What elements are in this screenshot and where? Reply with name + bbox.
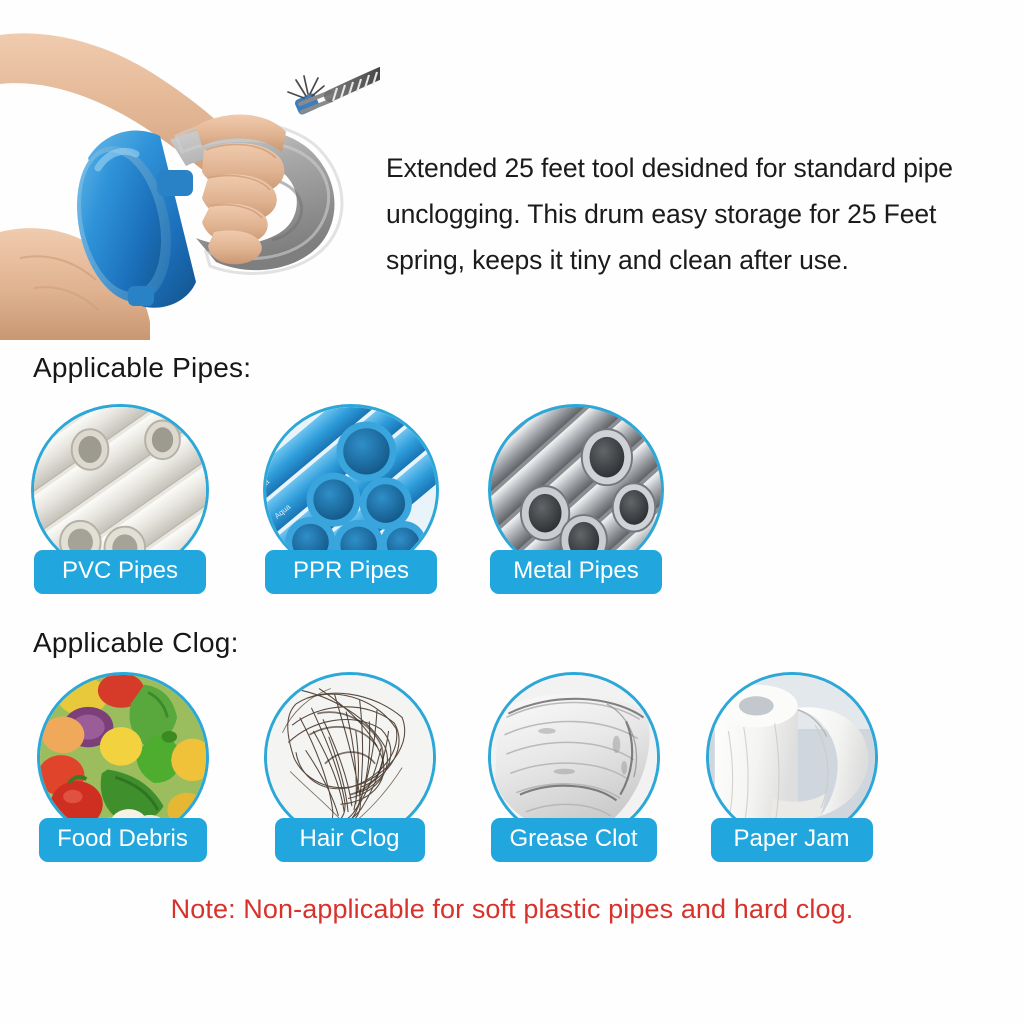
spring-cable: [330, 36, 380, 101]
badge-ppr-pipes[interactable]: PPR Pipes: [265, 550, 437, 594]
infographic-page: Extended 25 feet tool desidned for stand…: [0, 0, 1024, 1024]
product-description: Extended 25 feet tool desidned for stand…: [386, 145, 1006, 283]
badge-food-debris[interactable]: Food Debris: [39, 818, 207, 862]
badge-pvc-pipes[interactable]: PVC Pipes: [34, 550, 206, 594]
badge-grease-clot[interactable]: Grease Clot: [491, 818, 657, 862]
badge-hair-clog[interactable]: Hair Clog: [275, 818, 425, 862]
applicable-pipes-heading: Applicable Pipes:: [33, 352, 251, 384]
badge-paper-jam[interactable]: Paper Jam: [711, 818, 873, 862]
badge-metal-pipes[interactable]: Metal Pipes: [490, 550, 662, 594]
applicable-clog-heading: Applicable Clog:: [33, 627, 239, 659]
grease-clot-photo: [488, 672, 660, 842]
warning-note: Note: Non-applicable for soft plastic pi…: [0, 894, 1024, 925]
paper-jam-photo: [706, 672, 878, 842]
applicable-pipes-row: PVC Pipes: [0, 404, 1024, 604]
food-debris-photo: [37, 672, 209, 842]
applicable-clog-row: Food Debris: [0, 672, 1024, 872]
hair-clog-photo: [264, 672, 436, 842]
product-photo: [0, 0, 380, 340]
